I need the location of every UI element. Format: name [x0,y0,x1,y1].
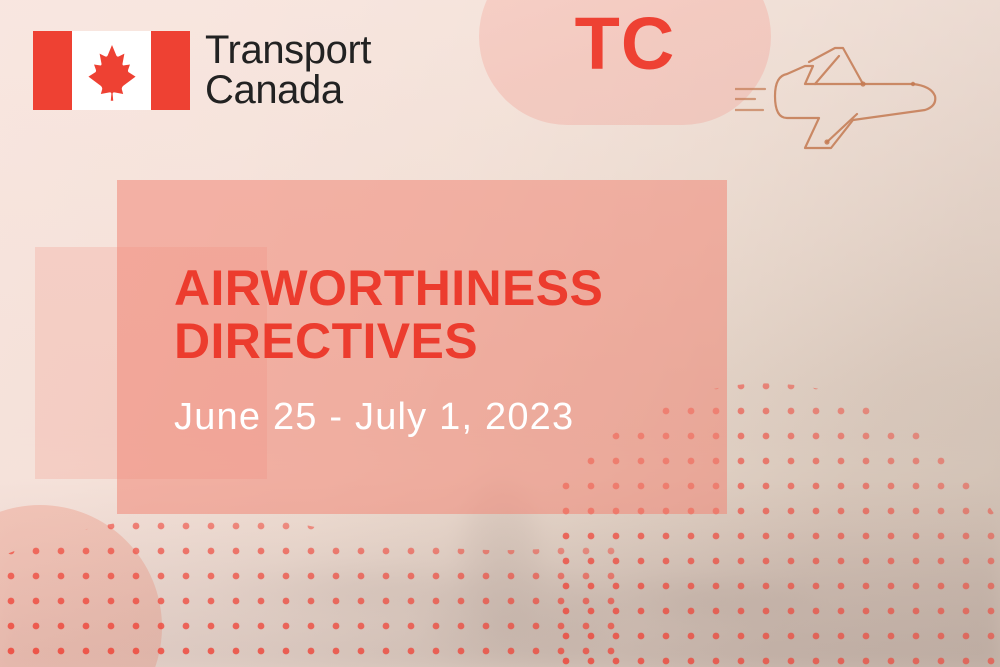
transport-canada-logo: Transport Canada [33,31,371,110]
canada-flag-icon [33,31,190,110]
page-title: AIRWORTHINESS DIRECTIVES [174,262,714,368]
airplane-outline-icon [735,36,985,164]
date-range-subtitle: June 25 - July 1, 2023 [174,398,714,436]
tc-badge-label: TC [575,7,676,81]
flag-bar-right [151,31,190,110]
wordmark-line-transport: Transport [205,31,371,70]
title-line-directives: DIRECTIVES [174,315,714,368]
wordmark-line-canada: Canada [205,71,371,110]
airworthiness-directives-banner: TC [0,0,1000,667]
flag-bar-left [33,31,72,110]
headline-block: AIRWORTHINESS DIRECTIVES June 25 - July … [174,262,714,436]
tc-badge: TC [479,0,771,125]
title-line-airworthiness: AIRWORTHINESS [174,262,714,315]
transport-canada-wordmark: Transport Canada [202,31,371,109]
maple-leaf-icon [81,40,143,102]
